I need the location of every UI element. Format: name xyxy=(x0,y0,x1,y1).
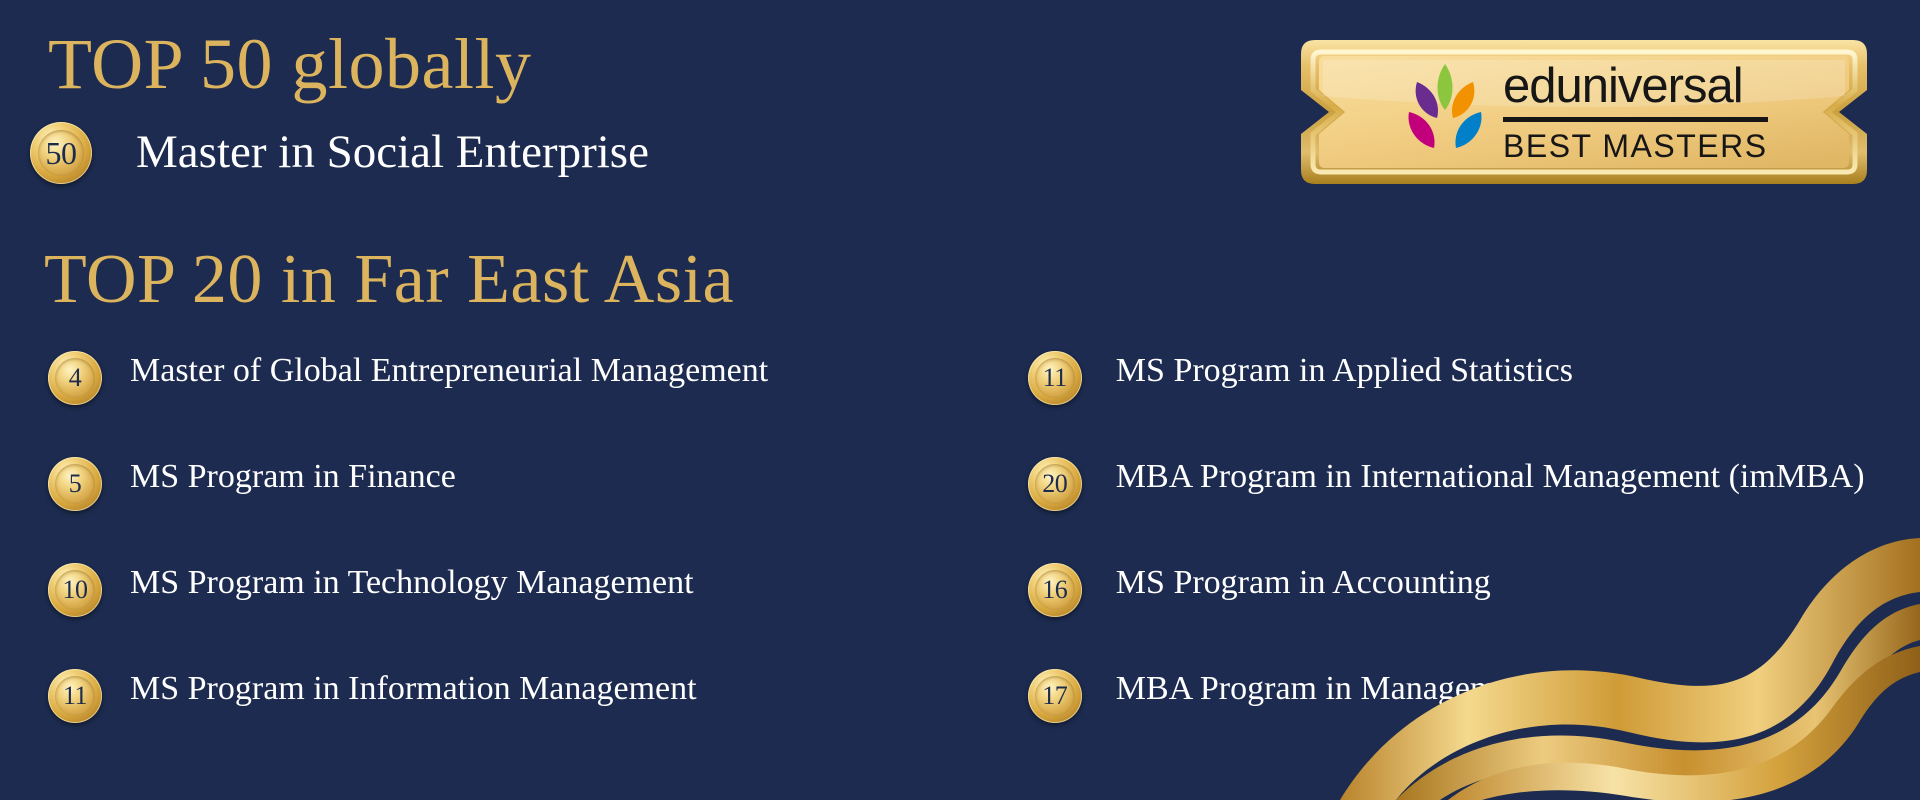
list-item: 20 MBA Program in International Manageme… xyxy=(1028,451,1920,557)
list-item: 11 MS Program in Information Management xyxy=(48,663,1018,769)
program-label: MS Program in Information Management xyxy=(102,663,697,709)
rankings-column-left: 4 Master of Global Entrepreneurial Manag… xyxy=(0,345,1018,769)
medal-badge: 20 xyxy=(1028,451,1082,511)
list-item: 16 MS Program in Accounting xyxy=(1028,557,1920,663)
program-label: Master of Global Entrepreneurial Managem… xyxy=(102,345,768,391)
list-item: 10 MS Program in Technology Management xyxy=(48,557,1018,663)
medal-badge: 10 xyxy=(48,557,102,617)
medal-rank-number: 11 xyxy=(63,683,87,709)
featured-program-label: Master in Social Enterprise xyxy=(136,127,649,179)
medal-badge: 4 xyxy=(48,345,102,405)
medal-circle: 5 xyxy=(48,457,102,511)
list-item: 17 MBA Program in Management xyxy=(1028,663,1920,769)
rankings-column-right: 11 MS Program in Applied Statistics 20 M… xyxy=(1018,345,1920,769)
badge-content: eduniversal BEST MASTERS xyxy=(1403,60,1843,164)
program-label: MS Program in Applied Statistics xyxy=(1082,345,1573,391)
list-item: 5 MS Program in Finance xyxy=(48,451,1018,557)
medal-rank-number: 17 xyxy=(1042,683,1067,709)
program-label: MBA Program in International Management … xyxy=(1082,451,1865,497)
medal-rank-number: 50 xyxy=(46,137,77,169)
page-title-top50: TOP 50 globally xyxy=(48,28,532,100)
list-item: 4 Master of Global Entrepreneurial Manag… xyxy=(48,345,1018,451)
medal-circle: 11 xyxy=(1028,351,1082,405)
medal-rank-number: 10 xyxy=(63,577,88,603)
medal-rank-number: 4 xyxy=(69,365,82,391)
medal-rank-number: 20 xyxy=(1042,471,1067,497)
program-label: MS Program in Technology Management xyxy=(102,557,694,603)
medal-badge-50: 50 xyxy=(30,122,92,184)
medal-circle: 20 xyxy=(1028,457,1082,511)
program-label: MS Program in Accounting xyxy=(1082,557,1491,603)
featured-rank-row: 50 Master in Social Enterprise xyxy=(30,122,649,184)
brand-divider xyxy=(1503,117,1768,122)
brand-subtitle: BEST MASTERS xyxy=(1503,130,1768,162)
ranking-banner: TOP 50 globally 50 Master in Social Ente… xyxy=(0,0,1920,800)
eduniversal-leaf-logo-icon xyxy=(1403,60,1487,164)
medal-circle: 11 xyxy=(48,669,102,723)
brand-name: eduniversal xyxy=(1503,62,1743,115)
medal-badge: 11 xyxy=(1028,345,1082,405)
page-title-top20: TOP 20 in Far East Asia xyxy=(44,245,734,315)
list-item: 11 MS Program in Applied Statistics xyxy=(1028,345,1920,451)
program-label: MBA Program in Management xyxy=(1082,663,1538,709)
medal-circle: 16 xyxy=(1028,563,1082,617)
medal-circle: 4 xyxy=(48,351,102,405)
badge-wordmark: eduniversal BEST MASTERS xyxy=(1503,62,1768,162)
medal-rank-number: 16 xyxy=(1042,577,1067,603)
medal-rank-number: 5 xyxy=(69,471,82,497)
medal-rank-number: 11 xyxy=(1043,365,1067,391)
medal-badge: 16 xyxy=(1028,557,1082,617)
eduniversal-best-masters-badge: eduniversal BEST MASTERS xyxy=(1283,32,1885,192)
medal-badge: 11 xyxy=(48,663,102,723)
medal-circle: 17 xyxy=(1028,669,1082,723)
rankings-columns: 4 Master of Global Entrepreneurial Manag… xyxy=(0,345,1920,769)
medal-badge: 5 xyxy=(48,451,102,511)
program-label: MS Program in Finance xyxy=(102,451,456,497)
medal-badge: 17 xyxy=(1028,663,1082,723)
medal-circle: 10 xyxy=(48,563,102,617)
